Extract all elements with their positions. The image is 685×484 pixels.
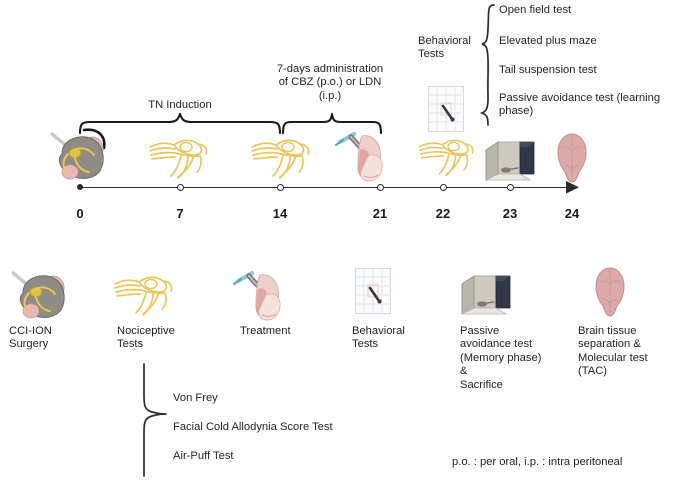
legend-label-brain-tissue-molecular: Brain tissue separation & Molecular test… [578, 325, 683, 379]
legend-icon-passive-avoidance-box-icon [460, 272, 514, 316]
behavioral-item-passive-avoidance-learning: Passive avoidance test (learning phase) [499, 92, 685, 119]
legend-label-nociceptive-tests: Nociceptive Tests [117, 325, 212, 352]
behavioral-item-tail-suspension: Tail suspension test [499, 64, 684, 77]
trigeminal-nerve-icon [418, 131, 476, 179]
timeline-axis [80, 187, 572, 188]
tick-marker-day-0 [77, 184, 83, 190]
tick-label-day-22: 22 [423, 206, 463, 221]
open-field-grid-icon [428, 86, 464, 132]
brace-label-administration: 7-days administration of CBZ (p.o.) or L… [255, 63, 405, 103]
passive-avoidance-box-icon [484, 138, 538, 182]
nociceptive-subtest-facial-cold-allodynia: Facial Cold Allodynia Score Test [173, 421, 453, 434]
tick-marker-day-21 [377, 184, 384, 191]
behavioral-group-label: Behavioral Tests [418, 35, 480, 62]
legend-icon-rodent-brain-icon [590, 266, 630, 318]
hand-syringe-icon [334, 126, 392, 184]
trigeminal-nerve-icon [250, 131, 312, 181]
legend-label-behavioral-tests: Behavioral Tests [352, 325, 447, 352]
tick-marker-day-14 [277, 184, 284, 191]
legend-icon-mouse-head-icon [5, 265, 73, 323]
tick-label-day-0: 0 [60, 206, 100, 221]
nociceptive-subtest-von-frey: Von Frey [173, 392, 433, 405]
behavioral-item-elevated-plus-maze: Elevated plus maze [499, 35, 684, 48]
trigeminal-nerve-icon [148, 131, 210, 181]
legend-label-passive-avoidance-memory: Passive avoidance test (Memory phase) & … [460, 325, 565, 392]
nociceptive-subtest-air-puff: Air-Puff Test [173, 450, 433, 463]
legend-icon-hand-syringe-icon [232, 265, 290, 323]
tick-label-day-23: 23 [490, 206, 530, 221]
brace-label-tn-induction: TN Induction [130, 99, 230, 112]
tick-label-day-7: 7 [160, 206, 200, 221]
legend-label-treatment: Treatment [240, 325, 335, 338]
tick-marker-day-7 [177, 184, 184, 191]
tick-label-day-21: 21 [360, 206, 400, 221]
legend-icon-trigeminal-nerve-icon [113, 268, 175, 318]
tick-marker-day-23 [507, 184, 514, 191]
tick-label-day-14: 14 [260, 206, 300, 221]
figure-canvas: Behavioral Tests Open field test Elevate… [0, 0, 685, 484]
behavioral-group-brace [480, 3, 496, 129]
tick-label-day-24: 24 [552, 206, 592, 221]
timeline-arrowhead [566, 181, 580, 194]
rodent-brain-icon [552, 132, 592, 184]
nociceptive-subtests-brace [142, 362, 168, 478]
tick-marker-day-22 [440, 184, 447, 191]
behavioral-item-open-field: Open field test [499, 4, 684, 17]
legend-label-cci-ion-surgery: CCI-ION Surgery [9, 325, 104, 352]
footnote-abbreviations: p.o. : per oral, i.p. : intra peritoneal [452, 456, 682, 469]
legend-icon-open-field-grid-icon [355, 268, 391, 314]
mouse-head-icon [44, 126, 112, 184]
